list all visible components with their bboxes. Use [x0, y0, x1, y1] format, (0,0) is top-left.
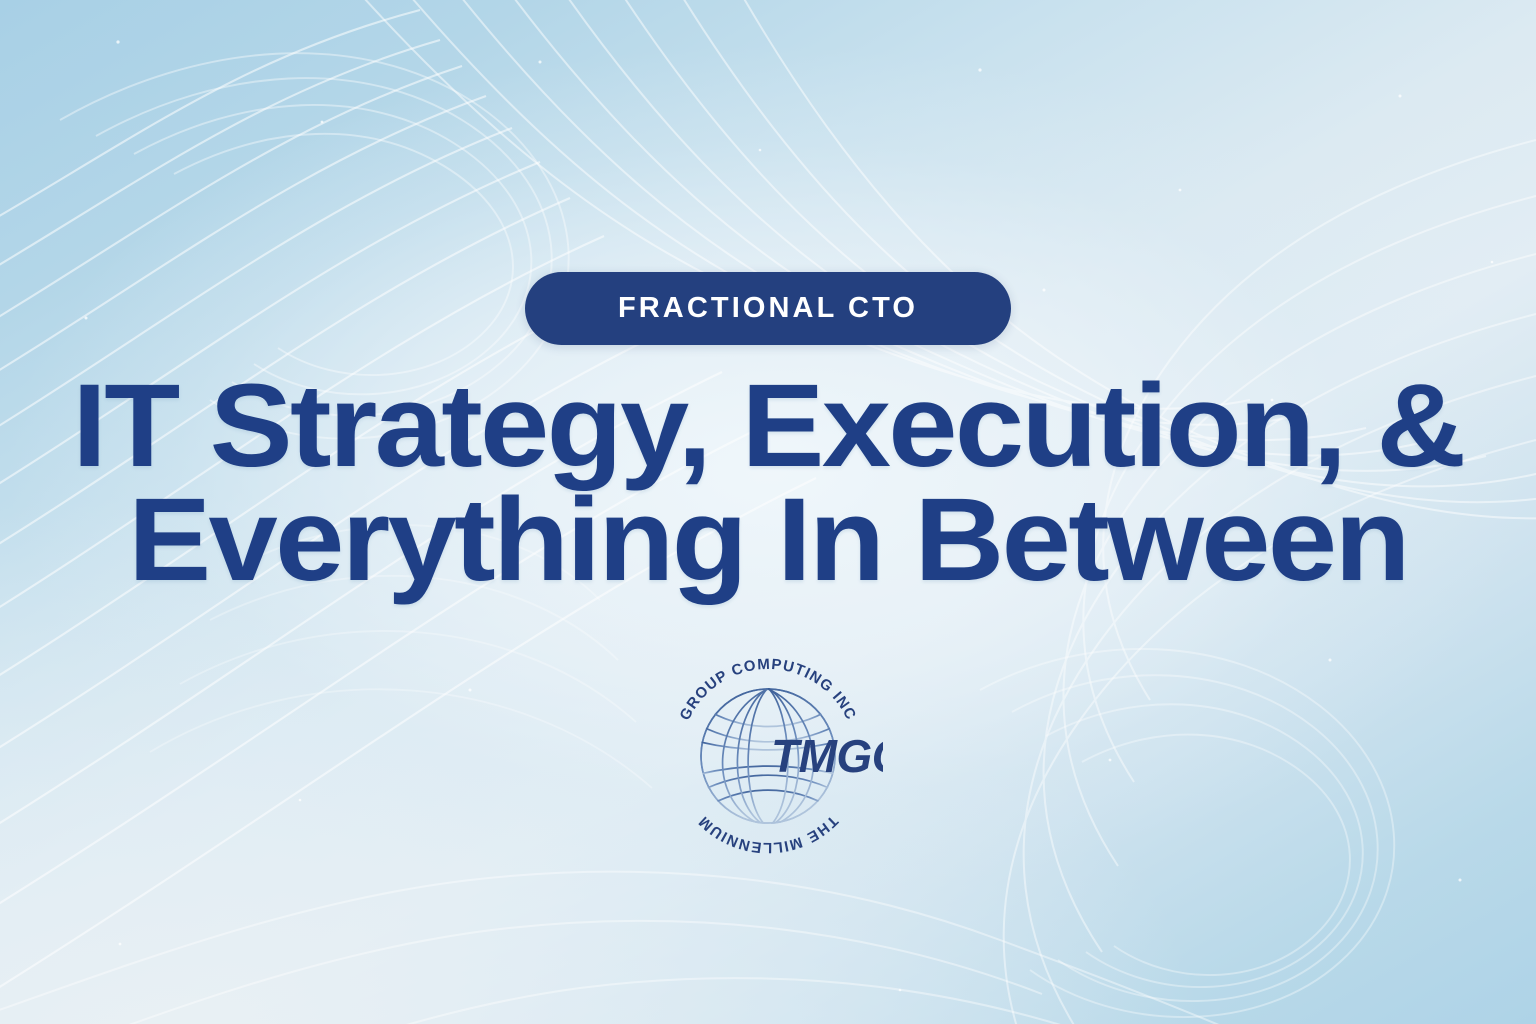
hero-banner: FRACTIONAL CTO IT Strategy, Execution, &… [0, 0, 1536, 1024]
page-title: IT Strategy, Execution, & Everything In … [38, 369, 1498, 598]
headline-line-2: Everything In Between [0, 483, 1536, 597]
headline-line-1: IT Strategy, Execution, & [0, 369, 1536, 483]
company-logo[interactable]: GROUP COMPUTING INC THE MILLENNIUM [653, 648, 883, 858]
eyebrow-badge[interactable]: FRACTIONAL CTO [525, 272, 1011, 345]
tmgc-logo-svg: GROUP COMPUTING INC THE MILLENNIUM [653, 648, 883, 858]
hero-content: FRACTIONAL CTO IT Strategy, Execution, &… [0, 0, 1536, 1024]
eyebrow-badge-label: FRACTIONAL CTO [618, 294, 918, 323]
logo-wordmark: TMGC [771, 730, 883, 782]
